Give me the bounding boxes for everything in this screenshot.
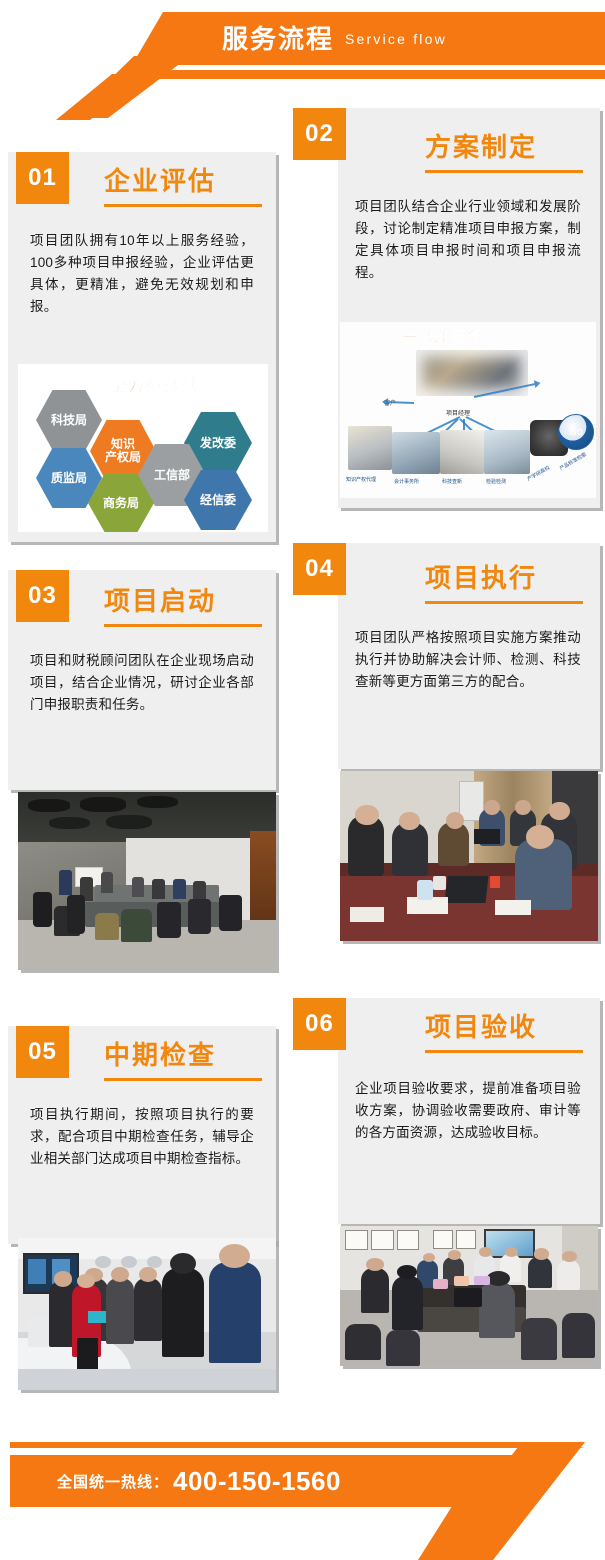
card-05-title: 中期检查 [104, 1042, 216, 1068]
card-01-title-rule [104, 204, 262, 207]
one-stop-node-search [440, 430, 484, 474]
card-05: 05 中期检查 项目执行期间，按照项目执行的要求，配合项目中期检查任务，辅导企业… [8, 1026, 276, 1396]
header-title-group: 服务流程 Service flow [222, 14, 447, 64]
photo-meeting-laptops [340, 771, 598, 941]
one-stop-label-testing: 检验检测 [486, 478, 506, 485]
card-04-media-photo-meeting-laptops [340, 771, 598, 941]
card-03: 03 项目启动 项目和财税顾问团队在企业现场启动项目，结合企业情况，研讨企业各部… [8, 570, 276, 985]
card-02-title: 方案制定 [425, 134, 537, 160]
card-02-title-rule [425, 170, 583, 173]
footer-hotline-group: 全国统一热线： 400-150-1560 [57, 1455, 341, 1507]
infographic-root: 服务流程 Service flow 01 企业评估 项目团队拥有10年以上服务经… [0, 0, 605, 1538]
hexagon-node-kejiju: 科技局 [36, 390, 102, 450]
hexagon-cluster: 全方位评估 科技局 知识 产权局 发改委 质监局 工信部 商务局 经信委 [18, 364, 268, 532]
card-03-number: 03 [16, 570, 69, 622]
card-04-text: 项目团队严格按照项目实施方案推动执行并协助解决会计师、检测、科技查新等更方面第三… [355, 627, 581, 693]
card-01: 01 企业评估 项目团队拥有10年以上服务经验，100多种项目申报经验，企业评估… [8, 152, 276, 542]
card-02: 02 方案制定 项目团队结合企业行业领域和发展阶段，讨论制定精准项目申报方案，制… [293, 108, 600, 508]
card-03-media-photo-conference-room [18, 792, 276, 970]
card-06-title-rule [425, 1050, 583, 1053]
one-stop-node-ip [348, 426, 392, 470]
one-stop-service-diagram: 一站式服务 客户 项目经理 ISO 知识产权代理 会计事务所 [340, 322, 596, 498]
card-01-number: 01 [16, 152, 69, 204]
card-03-title-rule [104, 624, 262, 627]
card-05-title-rule [104, 1078, 262, 1081]
header-stripe [120, 70, 605, 79]
card-01-media-hexagon-diagram: 全方位评估 科技局 知识 产权局 发改委 质监局 工信部 商务局 经信委 [18, 364, 268, 532]
card-03-text: 项目和财税顾问团队在企业现场启动项目，结合企业情况，研讨企业各部门申报职责和任务… [30, 650, 254, 716]
card-04: 04 项目执行 项目团队严格按照项目实施方案推动执行并协助解决会计师、检测、科技… [293, 543, 600, 943]
card-02-number: 02 [293, 108, 346, 160]
card-05-number: 05 [16, 1026, 69, 1078]
one-stop-service-title: 一站式服务 [400, 326, 484, 347]
card-02-media-one-stop-service: 一站式服务 客户 项目经理 ISO 知识产权代理 会计事务所 [340, 322, 596, 498]
card-04-title-rule [425, 601, 583, 604]
card-05-text: 项目执行期间，按照项目执行的要求，配合项目中期检查任务，辅导企业相关部门达成项目… [30, 1104, 254, 1170]
card-06: 06 项目验收 企业项目验收要求，提前准备项目验收方案，协调验收需要政府、审计等… [293, 998, 600, 1370]
page-header: 服务流程 Service flow [0, 12, 605, 104]
one-stop-label-search: 科技查新 [442, 478, 462, 485]
card-02-text: 项目团队结合企业行业领域和发展阶段，讨论制定精准项目申报方案，制定具体项目申报时… [355, 196, 581, 283]
page-title: 服务流程 [222, 26, 334, 52]
photo-boardroom [340, 1226, 598, 1366]
card-01-title: 企业评估 [104, 168, 216, 194]
card-06-media-photo-boardroom [340, 1226, 598, 1366]
photo-lobby-visit [18, 1238, 276, 1390]
card-06-text: 企业项目验收要求，提前准备项目验收方案，协调验收需要政府、审计等的各方面资源，达… [355, 1078, 581, 1144]
card-01-text: 项目团队拥有10年以上服务经验，100多种项目申报经验，企业评估更具体，更精准，… [30, 230, 254, 317]
one-stop-label-accounting: 会计事务所 [394, 478, 419, 485]
hexagon-diagram-title: 全方位评估 [108, 372, 202, 397]
hotline-label: 全国统一热线： [57, 1471, 169, 1492]
card-03-title: 项目启动 [104, 588, 216, 614]
hotline-number[interactable]: 400-150-1560 [173, 1466, 341, 1497]
photo-conference-room [18, 792, 276, 970]
page-footer: 全国统一热线： 400-150-1560 [0, 1424, 605, 1538]
one-stop-node-testing [484, 430, 530, 474]
card-05-media-photo-lobby-visit [18, 1238, 276, 1390]
page-subtitle: Service flow [345, 32, 447, 46]
card-06-title: 项目验收 [425, 1014, 537, 1040]
card-04-number: 04 [293, 543, 346, 595]
footer-stripe [10, 1442, 585, 1448]
one-stop-node-accounting [392, 432, 440, 474]
one-stop-label-ip: 知识产权代理 [346, 476, 376, 483]
one-stop-seal-icon: ISO [558, 414, 594, 450]
card-04-title: 项目执行 [425, 565, 537, 591]
card-06-number: 06 [293, 998, 346, 1050]
